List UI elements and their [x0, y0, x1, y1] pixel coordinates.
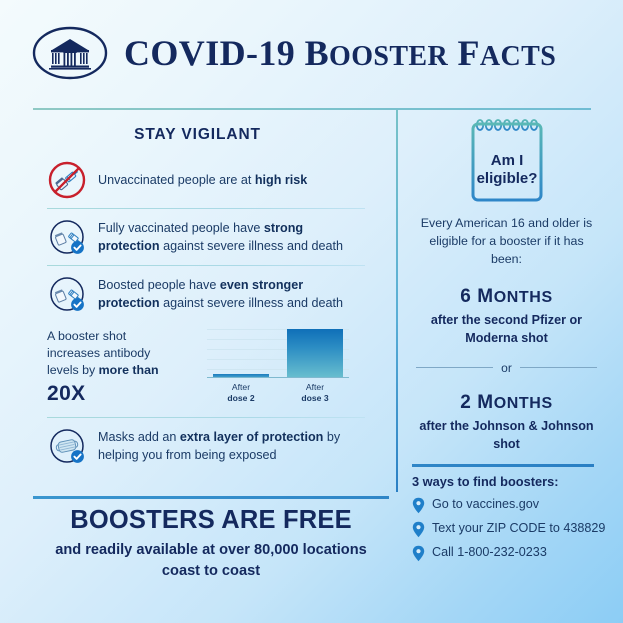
section-title-stay-vigilant: STAY VIGILANT: [33, 126, 388, 144]
fact-lead: Boosted people have: [98, 278, 220, 292]
header-divider: [33, 108, 591, 110]
fact-tail: against severe illness and death: [160, 296, 343, 310]
mask-check-icon: [47, 426, 87, 466]
way-row-call[interactable]: Call 1-800-232-0233: [412, 544, 612, 562]
fact-separator: [47, 208, 365, 209]
notepad-wrapper: Am I eligible?: [404, 115, 609, 203]
map-pin-icon: [412, 521, 425, 538]
antibody-chart-section: A booster shot increases antibody levels…: [33, 320, 388, 411]
way-row-text-zip[interactable]: Text your ZIP CODE to 438829: [412, 520, 612, 538]
fact-emphasis: high risk: [255, 173, 307, 187]
fact-lead: Masks add an: [98, 430, 180, 444]
chart-bar-after-dose-3: [287, 329, 343, 377]
or-divider-label: or: [501, 361, 512, 375]
or-divider-line-right: [520, 367, 597, 369]
ways-section-divider: [412, 464, 594, 467]
antibody-bar-chart: After dose 2 After dose 3: [207, 326, 349, 403]
antibody-copy: A booster shot increases antibody levels…: [47, 326, 179, 409]
free-section-divider: [33, 496, 389, 499]
free-headline: BOOSTERS ARE FREE: [22, 506, 400, 534]
fact-row-masks: Masks add an extra layer of protection b…: [33, 420, 388, 472]
column-divider: [396, 110, 398, 492]
chart-x-axis: [207, 377, 349, 379]
free-subline: and readily available at over 80,000 loc…: [22, 540, 400, 581]
fact-separator: [47, 265, 365, 266]
find-boosters-block: 3 ways to find boosters: Go to vaccines.…: [412, 474, 612, 568]
poster-header: COVID-19 BOOSTER FACTS: [0, 0, 623, 105]
vaccine-check-icon: [47, 274, 87, 314]
chart-tick-line1: After: [232, 382, 250, 392]
antibody-multiplier: 20X: [47, 380, 179, 409]
fact-text-boosted: Boosted people have even stronger protec…: [98, 276, 366, 313]
way-row-vaccines-gov[interactable]: Go to vaccines.gov: [412, 496, 612, 514]
eligibility-option-a-headline: 6 MONTHS: [404, 285, 609, 308]
svg-text:eligible?: eligible?: [476, 170, 537, 187]
fact-row-unvaccinated: Unvaccinated people are at high risk: [33, 154, 388, 206]
ways-title: 3 ways to find boosters:: [412, 474, 612, 489]
vaccine-check-icon: [47, 217, 87, 257]
chart-tick-after-dose-3: After dose 3: [281, 382, 349, 403]
no-vaccine-icon: [47, 160, 87, 200]
fact-lead: Unvaccinated people are at: [98, 173, 255, 187]
map-pin-icon: [412, 497, 425, 514]
chart-tick-line2: dose 2: [207, 393, 275, 404]
fact-tail: against severe illness and death: [160, 239, 343, 253]
or-divider: or: [416, 361, 597, 375]
chart-tick-labels: After dose 2 After dose 3: [207, 382, 349, 403]
notepad-icon: Am I eligible?: [468, 115, 546, 203]
chart-tick-after-dose-2: After dose 2: [207, 382, 275, 403]
eligibility-option-b-sub: after the Johnson & Johnson shot: [404, 418, 609, 454]
antibody-emphasis: more than: [99, 363, 159, 377]
or-divider-line-left: [416, 367, 493, 369]
page-title: COVID-19 BOOSTER FACTS: [124, 35, 556, 71]
left-column: STAY VIGILANT Unvaccinated people are at…: [33, 118, 388, 493]
svg-text:Am I: Am I: [490, 152, 523, 169]
fact-lead: Fully vaccinated people have: [98, 221, 264, 235]
eligibility-intro: Every American 16 and older is eligible …: [404, 215, 609, 269]
fact-separator: [47, 417, 365, 418]
chart-plot-area: [207, 328, 349, 378]
fact-emphasis: extra layer of protection: [180, 430, 323, 444]
chart-tick-line2: dose 3: [281, 393, 349, 404]
eligibility-option-b-headline: 2 MONTHS: [404, 391, 609, 414]
eligibility-option-a-sub: after the second Pfizer or Moderna shot: [404, 312, 609, 348]
white-house-seal-icon: [32, 26, 108, 80]
fact-text-unvaccinated: Unvaccinated people are at high risk: [98, 171, 307, 189]
chart-tick-line1: After: [306, 382, 324, 392]
boosters-are-free-block: BOOSTERS ARE FREE and readily available …: [22, 506, 400, 581]
infographic-poster: COVID-19 BOOSTER FACTS STAY VIGILANT Unv…: [0, 0, 623, 623]
fact-row-fully-vaccinated: Fully vaccinated people have strong prot…: [33, 211, 388, 263]
way-text: Go to vaccines.gov: [432, 496, 539, 513]
fact-text-masks: Masks add an extra layer of protection b…: [98, 428, 366, 465]
right-column: Am I eligible? Every American 16 and old…: [404, 115, 609, 453]
map-pin-icon: [412, 545, 425, 562]
way-text: Text your ZIP CODE to 438829: [432, 520, 605, 537]
fact-row-boosted: Boosted people have even stronger protec…: [33, 268, 388, 320]
fact-text-fully-vaccinated: Fully vaccinated people have strong prot…: [98, 219, 366, 256]
way-text: Call 1-800-232-0233: [432, 544, 547, 561]
